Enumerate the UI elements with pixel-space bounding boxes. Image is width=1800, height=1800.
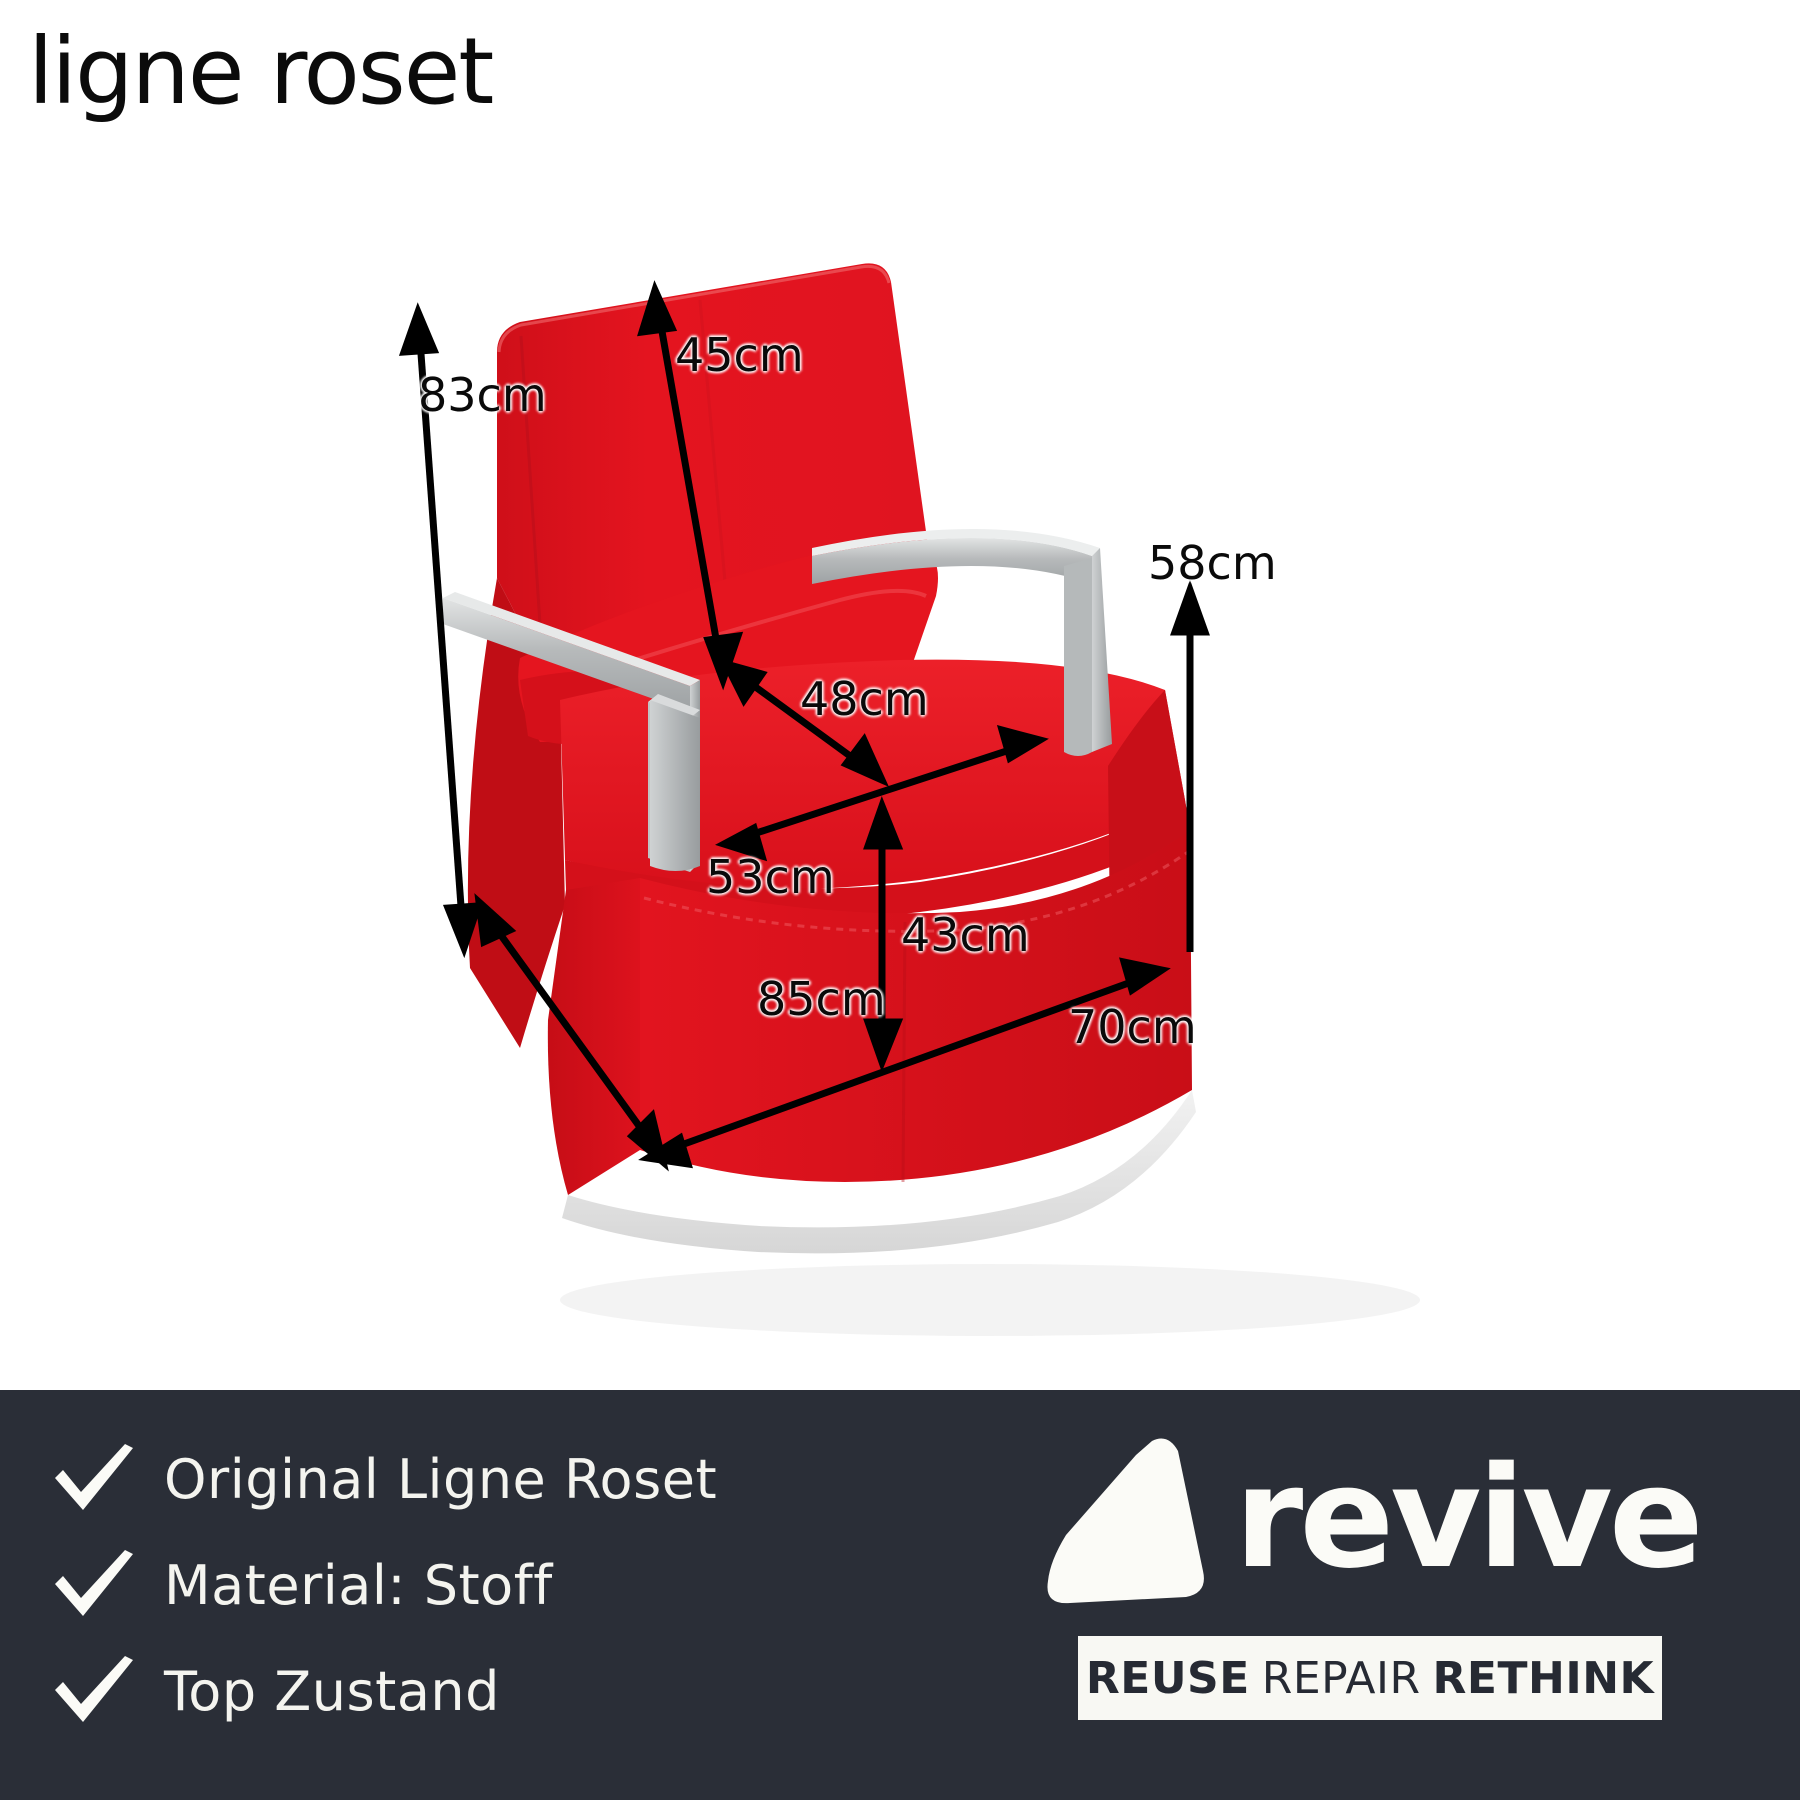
footer-band: Original Ligne Roset Material: Stoff Top… [0, 1390, 1800, 1800]
dimension-label-seat-height: 43cm [901, 908, 1030, 962]
feature-list: Original Ligne Roset Material: Stoff Top… [46, 1426, 926, 1744]
feature-label: Top Zustand [164, 1660, 500, 1723]
dimension-label-total-height: 83cm [418, 368, 547, 422]
tagline-rethink: RETHINK [1433, 1653, 1655, 1704]
tagline-repair: REPAIR [1262, 1653, 1421, 1704]
dimension-label-seat-depth: 48cm [800, 672, 929, 726]
dimension-label-total-depth: 85cm [757, 972, 886, 1026]
revive-branding: revive REUSE REPAIR RETHINK [1010, 1424, 1730, 1764]
revive-triangle-icon [1040, 1431, 1208, 1607]
dimension-label-total-width: 70cm [1068, 1000, 1197, 1054]
feature-label: Original Ligne Roset [164, 1448, 717, 1511]
product-image-area: ligne roset [0, 0, 1800, 1390]
check-icon [46, 1548, 142, 1622]
check-icon [46, 1654, 142, 1728]
feature-label: Material: Stoff [164, 1554, 553, 1617]
feature-row: Top Zustand [46, 1638, 926, 1744]
dimension-label-backrest-height: 45cm [675, 328, 804, 382]
dimension-label-seat-width: 53cm [706, 850, 835, 904]
feature-row: Original Ligne Roset [46, 1426, 926, 1532]
tagline-bar: REUSE REPAIR RETHINK [1078, 1636, 1662, 1720]
feature-row: Material: Stoff [46, 1532, 926, 1638]
revive-wordmark: revive [1234, 1449, 1699, 1589]
tagline-reuse: REUSE [1086, 1653, 1250, 1704]
revive-lockup: revive [1010, 1424, 1730, 1614]
check-icon [46, 1442, 142, 1516]
dimension-label-armrest-height: 58cm [1148, 536, 1277, 590]
